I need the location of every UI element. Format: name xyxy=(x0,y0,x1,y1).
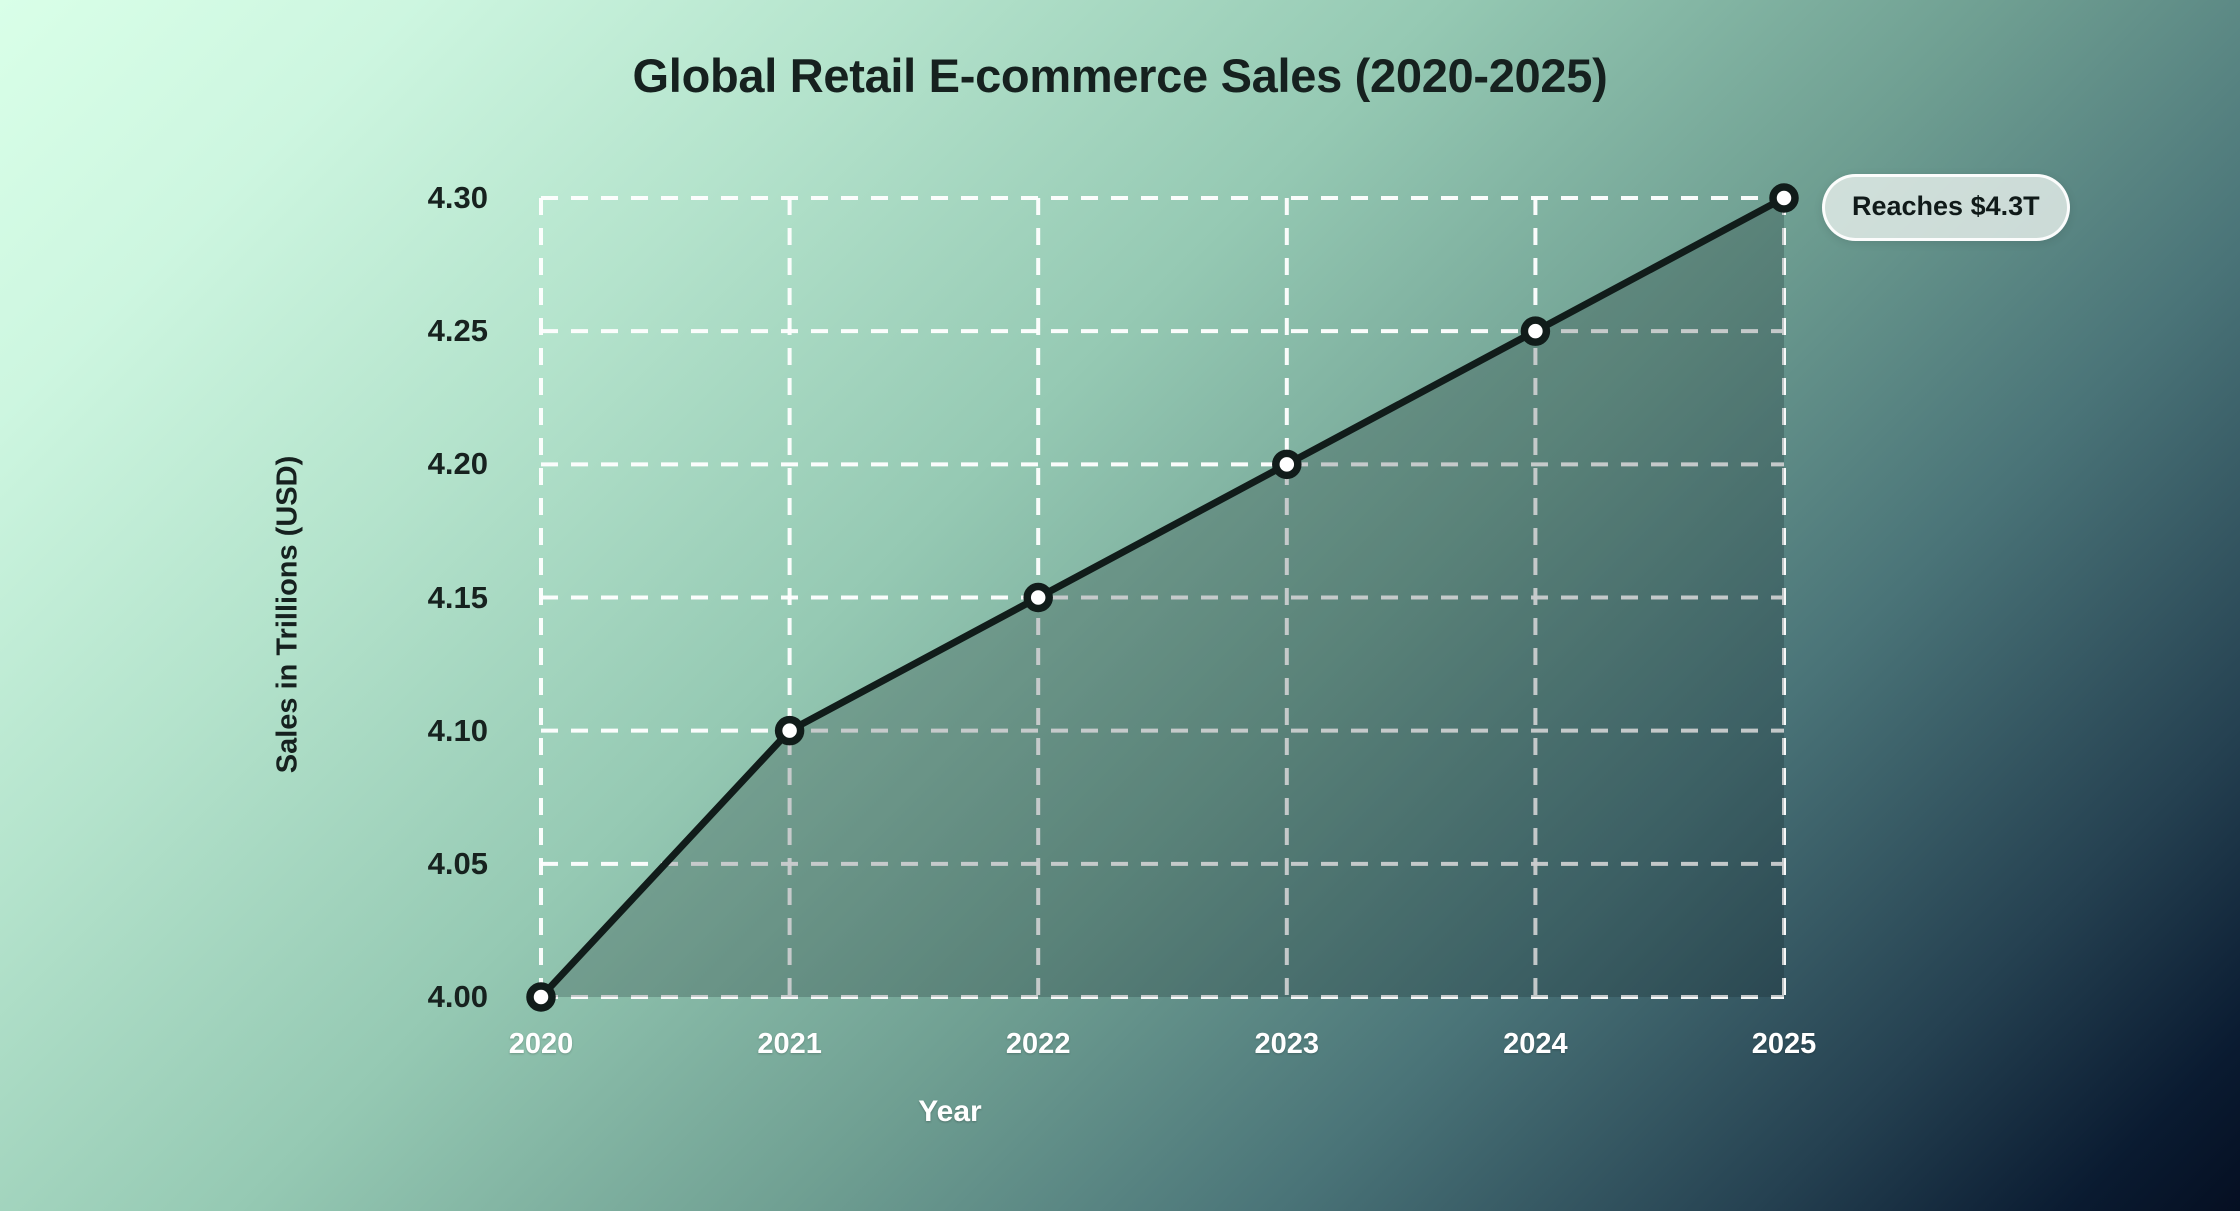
data-point-marker[interactable] xyxy=(1027,587,1049,609)
data-point-marker[interactable] xyxy=(1524,320,1546,342)
annotation-badge-reaches: Reaches $4.3T xyxy=(1822,174,2070,241)
x-axis-tick-label: 2023 xyxy=(1255,1028,1320,1061)
data-point-marker[interactable] xyxy=(779,720,801,742)
x-axis-tick-label: 2024 xyxy=(1503,1028,1568,1061)
x-axis-tick-label: 2025 xyxy=(1752,1028,1817,1061)
chart-canvas: Global Retail E-commerce Sales (2020-202… xyxy=(0,0,2240,1211)
x-axis-tick-label: 2022 xyxy=(1006,1028,1071,1061)
data-point-marker[interactable] xyxy=(1773,187,1795,209)
plot-svg xyxy=(541,198,1784,997)
data-point-marker[interactable] xyxy=(530,986,552,1008)
y-axis-tick-label: 4.05 xyxy=(0,846,488,882)
plot-area xyxy=(541,198,1784,997)
x-axis-tick-label: 2021 xyxy=(757,1028,822,1061)
y-axis-tick-label: 4.30 xyxy=(0,180,488,216)
y-axis-tick-label: 4.00 xyxy=(0,979,488,1015)
y-axis-tick-label: 4.25 xyxy=(0,313,488,349)
data-point-marker[interactable] xyxy=(1276,453,1298,475)
x-axis-tick-label: 2020 xyxy=(509,1028,574,1061)
y-axis-tick-label: 4.10 xyxy=(0,713,488,749)
x-axis-title: Year xyxy=(0,1095,1900,1129)
y-axis-tick-label: 4.20 xyxy=(0,446,488,482)
y-axis-tick-label: 4.15 xyxy=(0,580,488,616)
chart-title: Global Retail E-commerce Sales (2020-202… xyxy=(0,48,2240,103)
